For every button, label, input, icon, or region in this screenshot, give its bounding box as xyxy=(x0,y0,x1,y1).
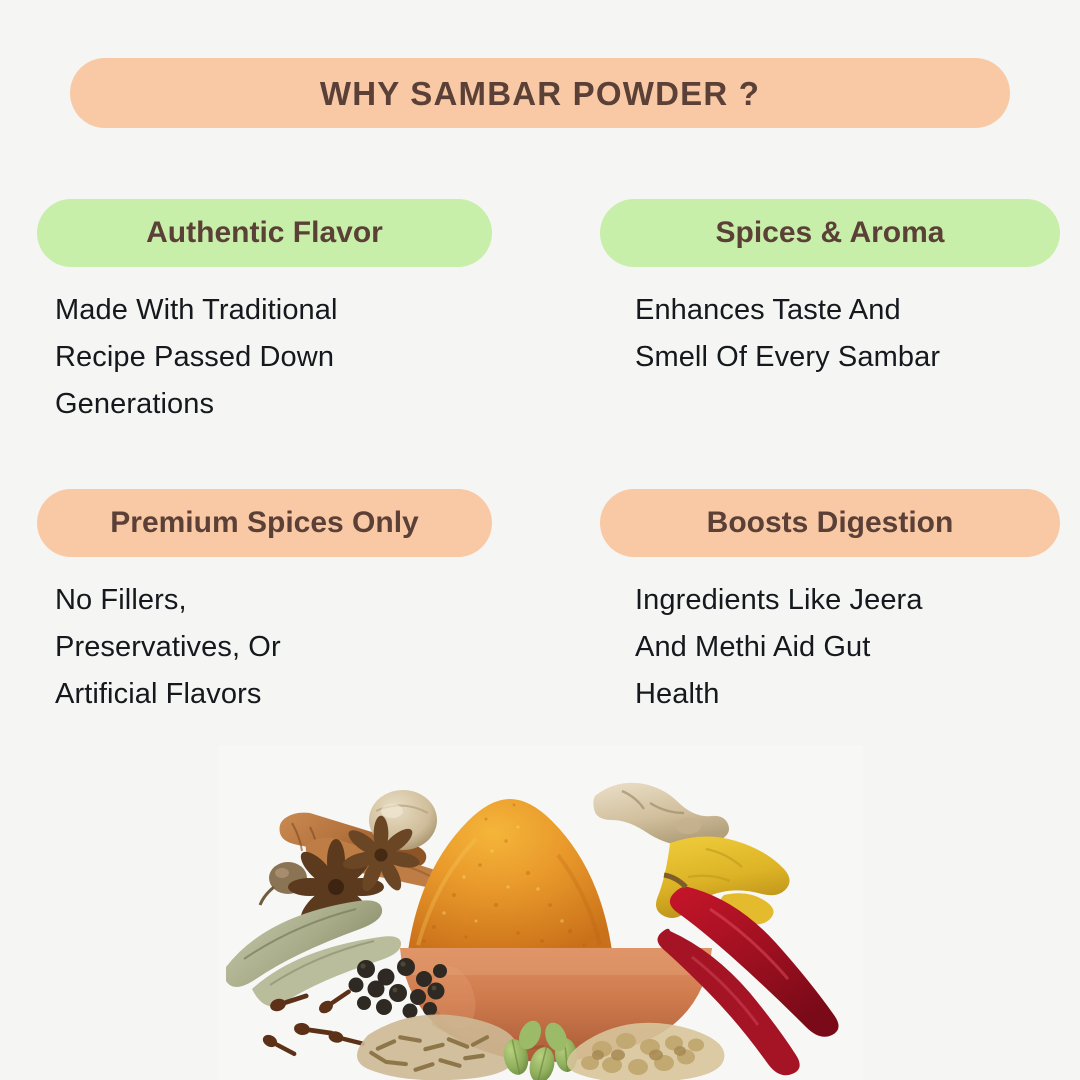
feature-heading-label: Boosts Digestion xyxy=(707,508,954,538)
feature-heading-pill-premium-spices-only: Premium Spices Only xyxy=(37,489,492,557)
product-image-sambar-powder xyxy=(218,745,863,1080)
feature-row-2: Premium Spices Only No Fillers, Preserva… xyxy=(0,489,1080,749)
feature-heading-pill-authentic-flavor: Authentic Flavor xyxy=(37,199,492,267)
feature-heading-pill-boosts-digestion: Boosts Digestion xyxy=(600,489,1060,557)
title-banner: WHY SAMBAR POWDER ? xyxy=(70,58,1010,128)
infographic-page: WHY SAMBAR POWDER ? Authentic Flavor Mad… xyxy=(0,0,1080,1080)
feature-description-spices-aroma: Enhances Taste And Smell Of Every Sambar xyxy=(600,287,1060,381)
feature-card-spices-aroma: Spices & Aroma Enhances Taste And Smell … xyxy=(600,199,1060,381)
feature-description-boosts-digestion: Ingredients Like Jeera And Methi Aid Gut… xyxy=(600,577,1060,718)
spice-illustration xyxy=(218,745,863,1080)
feature-heading-label: Authentic Flavor xyxy=(146,218,383,248)
feature-description-premium-spices-only: No Fillers, Preservatives, Or Artificial… xyxy=(37,577,492,718)
feature-heading-label: Spices & Aroma xyxy=(716,218,945,248)
feature-card-boosts-digestion: Boosts Digestion Ingredients Like Jeera … xyxy=(600,489,1060,718)
feature-grid: Authentic Flavor Made With Traditional R… xyxy=(0,199,1080,749)
feature-description-authentic-flavor: Made With Traditional Recipe Passed Down… xyxy=(37,287,492,428)
page-title: WHY SAMBAR POWDER ? xyxy=(320,77,760,110)
feature-heading-label: Premium Spices Only xyxy=(110,508,418,538)
feature-row-1: Authentic Flavor Made With Traditional R… xyxy=(0,199,1080,467)
feature-card-authentic-flavor: Authentic Flavor Made With Traditional R… xyxy=(37,199,492,428)
feature-card-premium-spices-only: Premium Spices Only No Fillers, Preserva… xyxy=(37,489,492,718)
feature-heading-pill-spices-aroma: Spices & Aroma xyxy=(600,199,1060,267)
